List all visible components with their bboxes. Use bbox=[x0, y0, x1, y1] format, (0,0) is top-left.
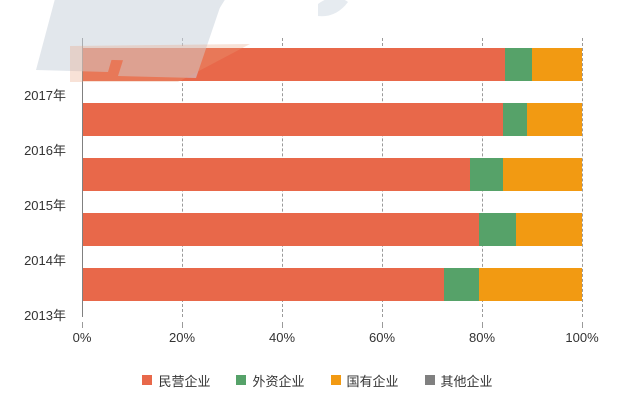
y-axis-label-2013: 2013年 bbox=[0, 309, 66, 323]
x-axis-tick bbox=[382, 322, 383, 328]
bar-segment[interactable] bbox=[479, 268, 582, 301]
x-axis-tick bbox=[82, 322, 83, 328]
x-axis-tick bbox=[582, 322, 583, 328]
bar-segment[interactable] bbox=[82, 158, 470, 191]
bar-row bbox=[82, 158, 582, 191]
legend-swatch-icon bbox=[142, 375, 152, 385]
y-axis-label-2014: 2014年 bbox=[0, 254, 66, 268]
legend-label: 国有企业 bbox=[347, 371, 399, 390]
bar-segment[interactable] bbox=[82, 268, 444, 301]
bar-row bbox=[82, 268, 582, 301]
bar-segment[interactable] bbox=[503, 103, 527, 136]
x-axis-label: 80% bbox=[469, 330, 495, 345]
legend-swatch-icon bbox=[331, 375, 341, 385]
bar-segment[interactable] bbox=[479, 213, 516, 246]
x-axis-tick bbox=[282, 322, 283, 328]
y-axis-label-2015: 2015年 bbox=[0, 199, 66, 213]
x-axis-labels: 0%20%40%60%80%100% bbox=[82, 322, 582, 342]
bar-segment[interactable] bbox=[527, 103, 582, 136]
y-axis-label-2017: 2017年 bbox=[0, 89, 66, 103]
legend-item[interactable]: 国有企业 bbox=[331, 371, 399, 390]
bar-segment[interactable] bbox=[82, 48, 505, 81]
bar-segment[interactable] bbox=[505, 48, 532, 81]
bar-segment[interactable] bbox=[503, 158, 583, 191]
y-axis-line bbox=[82, 38, 83, 317]
bar-segment[interactable] bbox=[470, 158, 503, 191]
x-axis-label: 0% bbox=[73, 330, 92, 345]
legend-item[interactable]: 其他企业 bbox=[425, 371, 493, 390]
x-axis-label: 100% bbox=[565, 330, 598, 345]
legend-label: 民营企业 bbox=[158, 371, 210, 390]
bar-segment[interactable] bbox=[532, 48, 583, 81]
legend-swatch-icon bbox=[425, 375, 435, 385]
bars-layer bbox=[82, 38, 582, 317]
y-axis-labels: 2017年 2016年 2015年 2014年 2013年 bbox=[0, 38, 74, 317]
legend-item[interactable]: 外资企业 bbox=[236, 371, 304, 390]
bar-row bbox=[82, 213, 582, 246]
bar-segment[interactable] bbox=[82, 103, 503, 136]
legend-label: 外资企业 bbox=[252, 371, 304, 390]
bar-segment[interactable] bbox=[82, 213, 479, 246]
x-axis-label: 60% bbox=[369, 330, 395, 345]
x-axis-tick bbox=[182, 322, 183, 328]
bar-segment[interactable] bbox=[516, 213, 583, 246]
stacked-bar-chart: 2017年 2016年 2015年 2014年 2013年 0%20%40%60… bbox=[0, 0, 635, 410]
x-axis-tick bbox=[482, 322, 483, 328]
chart-legend: 民营企业外资企业国有企业其他企业 bbox=[0, 368, 635, 392]
plot-area bbox=[82, 38, 582, 317]
bar-segment[interactable] bbox=[444, 268, 480, 301]
gridline-100pct bbox=[582, 38, 583, 317]
legend-label: 其他企业 bbox=[441, 371, 493, 390]
x-axis-label: 20% bbox=[169, 330, 195, 345]
x-axis-label: 40% bbox=[269, 330, 295, 345]
legend-item[interactable]: 民营企业 bbox=[142, 371, 210, 390]
legend-swatch-icon bbox=[236, 375, 246, 385]
bar-row bbox=[82, 103, 582, 136]
y-axis-label-2016: 2016年 bbox=[0, 144, 66, 158]
bar-row bbox=[82, 48, 582, 81]
